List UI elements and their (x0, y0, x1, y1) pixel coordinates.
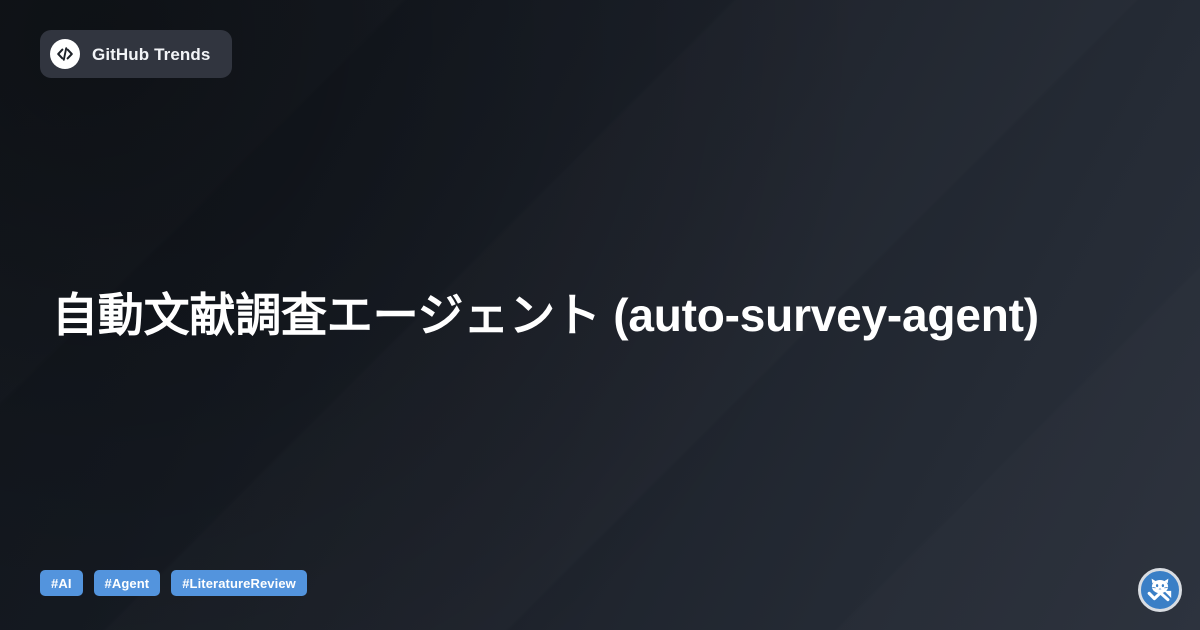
og-card: GitHub Trends 自動文献調査エージェント (auto-survey-… (0, 0, 1200, 630)
title-container: 自動文献調査エージェント (auto-survey-agent) (52, 0, 1112, 630)
code-slash-icon (50, 39, 80, 69)
brand-badge[interactable]: GitHub Trends (40, 30, 232, 78)
tag-pill[interactable]: #LiteratureReview (171, 570, 307, 596)
cat-trend-logo-icon[interactable] (1138, 568, 1182, 612)
page-title: 自動文献調査エージェント (auto-survey-agent) (52, 286, 1039, 345)
tag-list: #AI #Agent #LiteratureReview (40, 570, 307, 596)
tag-pill[interactable]: #Agent (94, 570, 161, 596)
tag-pill[interactable]: #AI (40, 570, 83, 596)
brand-label: GitHub Trends (92, 46, 210, 63)
